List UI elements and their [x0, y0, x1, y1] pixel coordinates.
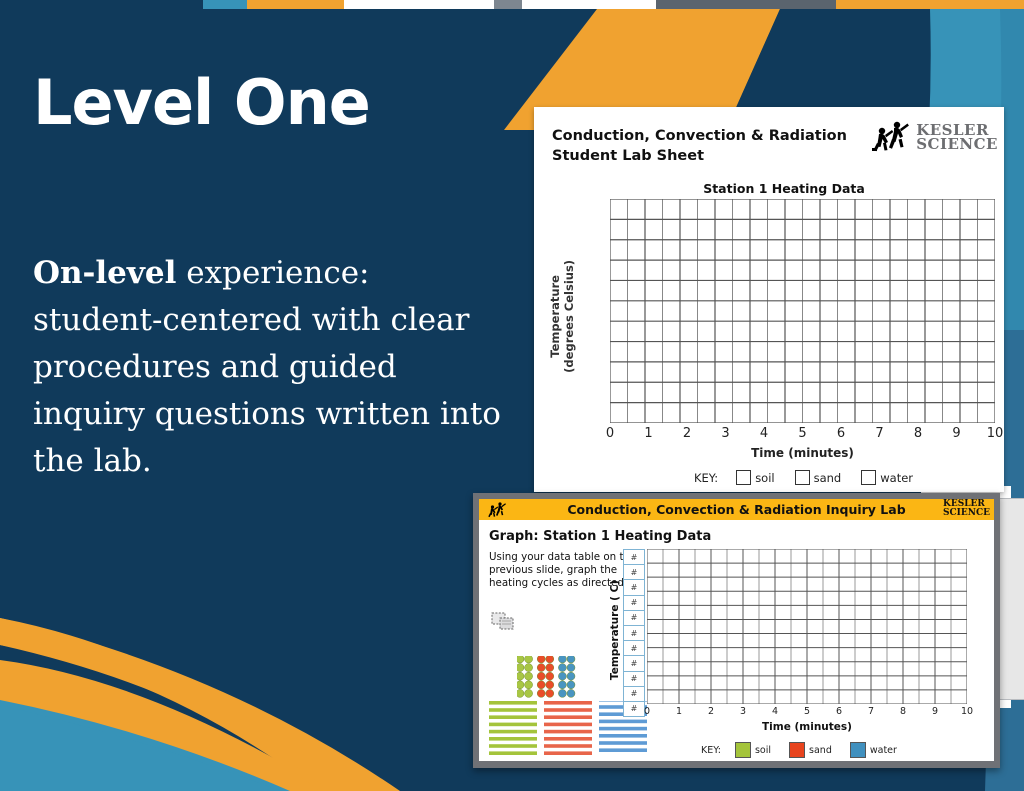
doc1-ylabel-line2: (degrees Celsius) — [562, 260, 576, 373]
x-tick-7: 7 — [875, 426, 883, 441]
doc1-key-label: KEY: — [694, 471, 718, 485]
top-strip-segment-1 — [203, 0, 247, 9]
x-tick-4: 4 — [760, 426, 768, 441]
doc2-x-tick-labels: 012345678910 — [647, 706, 967, 720]
kesler-logo-line2: SCIENCE — [943, 509, 990, 518]
doc1-key-item-soil[interactable]: soil — [736, 470, 774, 485]
sticky-notes-icon — [491, 611, 517, 640]
doc1-key-label-water: water — [880, 471, 913, 485]
y-value-cell-7[interactable]: # — [623, 655, 645, 671]
x-tick-2: 2 — [708, 706, 714, 717]
doc2-key-item-water[interactable]: water — [850, 742, 897, 758]
x-tick-5: 5 — [798, 426, 806, 441]
checkbox-soil[interactable] — [736, 470, 751, 485]
y-value-cell-0[interactable]: # — [623, 549, 645, 565]
body-paragraph: On-level experience: student-centered wi… — [33, 250, 503, 486]
doc2-key-item-soil[interactable]: soil — [735, 742, 771, 758]
doc2-key-item-sand[interactable]: sand — [789, 742, 832, 758]
page-title: Level One — [33, 70, 370, 135]
y-value-cell-4[interactable]: # — [623, 610, 645, 626]
slide-canvas: Level One On-level experience: student-c… — [0, 0, 1024, 791]
x-tick-8: 8 — [914, 426, 922, 441]
doc1-key-row: KEY: soil sand water — [694, 470, 933, 485]
doc1-title-line2: Student Lab Sheet — [552, 147, 847, 167]
doc2-key-label-water: water — [870, 745, 897, 756]
y-value-cell-3[interactable]: # — [623, 595, 645, 611]
x-tick-2: 2 — [683, 426, 691, 441]
kesler-science-logo: KESLER SCIENCE — [870, 119, 998, 155]
doc2-key-row: KEY: soil sand water — [701, 742, 915, 758]
swatch-sand — [789, 742, 805, 758]
y-value-cell-10[interactable]: # — [623, 701, 645, 717]
checkbox-water[interactable] — [861, 470, 876, 485]
doc2-graph-grid[interactable] — [647, 549, 967, 704]
y-value-cell-1[interactable]: # — [623, 564, 645, 580]
x-tick-6: 6 — [837, 426, 845, 441]
doc2-y-value-cells[interactable]: ########### — [623, 549, 645, 716]
doc1-chart-title: Station 1 Heating Data — [534, 181, 1004, 196]
y-value-cell-8[interactable]: # — [623, 671, 645, 687]
doc1-key-item-sand[interactable]: sand — [795, 470, 842, 485]
doc2-ylabel-text: Temperature ( C) — [609, 580, 621, 680]
x-tick-1: 1 — [644, 426, 652, 441]
x-tick-8: 8 — [900, 706, 906, 717]
doc1-graph-grid[interactable] — [610, 199, 995, 423]
top-edge-strip — [0, 0, 1024, 9]
y-value-cell-9[interactable]: # — [623, 686, 645, 702]
doc2-x-axis-label: Time (minutes) — [647, 721, 967, 733]
doc1-key-label-soil: soil — [755, 471, 774, 485]
top-strip-segment-6 — [656, 0, 836, 9]
x-tick-5: 5 — [804, 706, 810, 717]
x-tick-9: 9 — [952, 426, 960, 441]
doc1-y-axis-label: Temperature (degrees Celsius) — [542, 204, 582, 429]
doc2-key-label-soil: soil — [755, 745, 771, 756]
doc2-section-title: Graph: Station 1 Heating Data — [489, 529, 711, 544]
checkbox-sand[interactable] — [795, 470, 810, 485]
x-tick-4: 4 — [772, 706, 778, 717]
top-strip-segment-2 — [247, 0, 344, 9]
doc2-bar-title: Conduction, Convection & Radiation Inqui… — [479, 502, 994, 517]
x-tick-0: 0 — [606, 426, 614, 441]
y-value-cell-6[interactable]: # — [623, 640, 645, 656]
body-lead-bold: On-level — [33, 255, 176, 291]
x-tick-6: 6 — [836, 706, 842, 717]
top-strip-segment-0 — [0, 0, 203, 9]
y-value-cell-2[interactable]: # — [623, 579, 645, 595]
x-tick-7: 7 — [868, 706, 874, 717]
kesler-science-logo: KESLER SCIENCE — [943, 500, 990, 517]
swatch-soil — [735, 742, 751, 758]
top-strip-segment-5 — [522, 0, 656, 9]
doc1-key-item-water[interactable]: water — [861, 470, 913, 485]
x-tick-3: 3 — [740, 706, 746, 717]
top-strip-segment-4 — [494, 0, 522, 9]
top-strip-segment-7 — [836, 0, 1024, 9]
swatch-water — [850, 742, 866, 758]
climbers-icon — [870, 119, 912, 155]
y-value-cell-5[interactable]: # — [623, 625, 645, 641]
x-tick-1: 1 — [676, 706, 682, 717]
x-tick-3: 3 — [721, 426, 729, 441]
x-tick-10: 10 — [961, 706, 973, 717]
x-tick-9: 9 — [932, 706, 938, 717]
doc1-key-label-sand: sand — [814, 471, 842, 485]
doc1-x-axis-label: Time (minutes) — [610, 446, 995, 460]
doc1-ylabel-line1: Temperature — [548, 275, 562, 358]
doc2-key-label: KEY: — [701, 745, 721, 756]
x-tick-10: 10 — [987, 426, 1004, 441]
doc1-title: Conduction, Convection & Radiation Stude… — [552, 127, 847, 166]
top-strip-segment-3 — [344, 0, 494, 9]
doc2-key-label-sand: sand — [809, 745, 832, 756]
student-lab-sheet-document[interactable]: Conduction, Convection & Radiation Stude… — [534, 107, 1004, 492]
kesler-logo-line2: SCIENCE — [916, 137, 998, 151]
doc2-y-axis-label: Temperature ( C) — [607, 555, 623, 705]
doc2-title-bar: Conduction, Convection & Radiation Inqui… — [479, 499, 994, 520]
inquiry-lab-document[interactable]: Conduction, Convection & Radiation Inqui… — [479, 499, 994, 761]
doc1-x-tick-labels: 012345678910 — [610, 426, 995, 444]
doc1-title-line1: Conduction, Convection & Radiation — [552, 127, 847, 147]
x-tick-0: 0 — [644, 706, 650, 717]
